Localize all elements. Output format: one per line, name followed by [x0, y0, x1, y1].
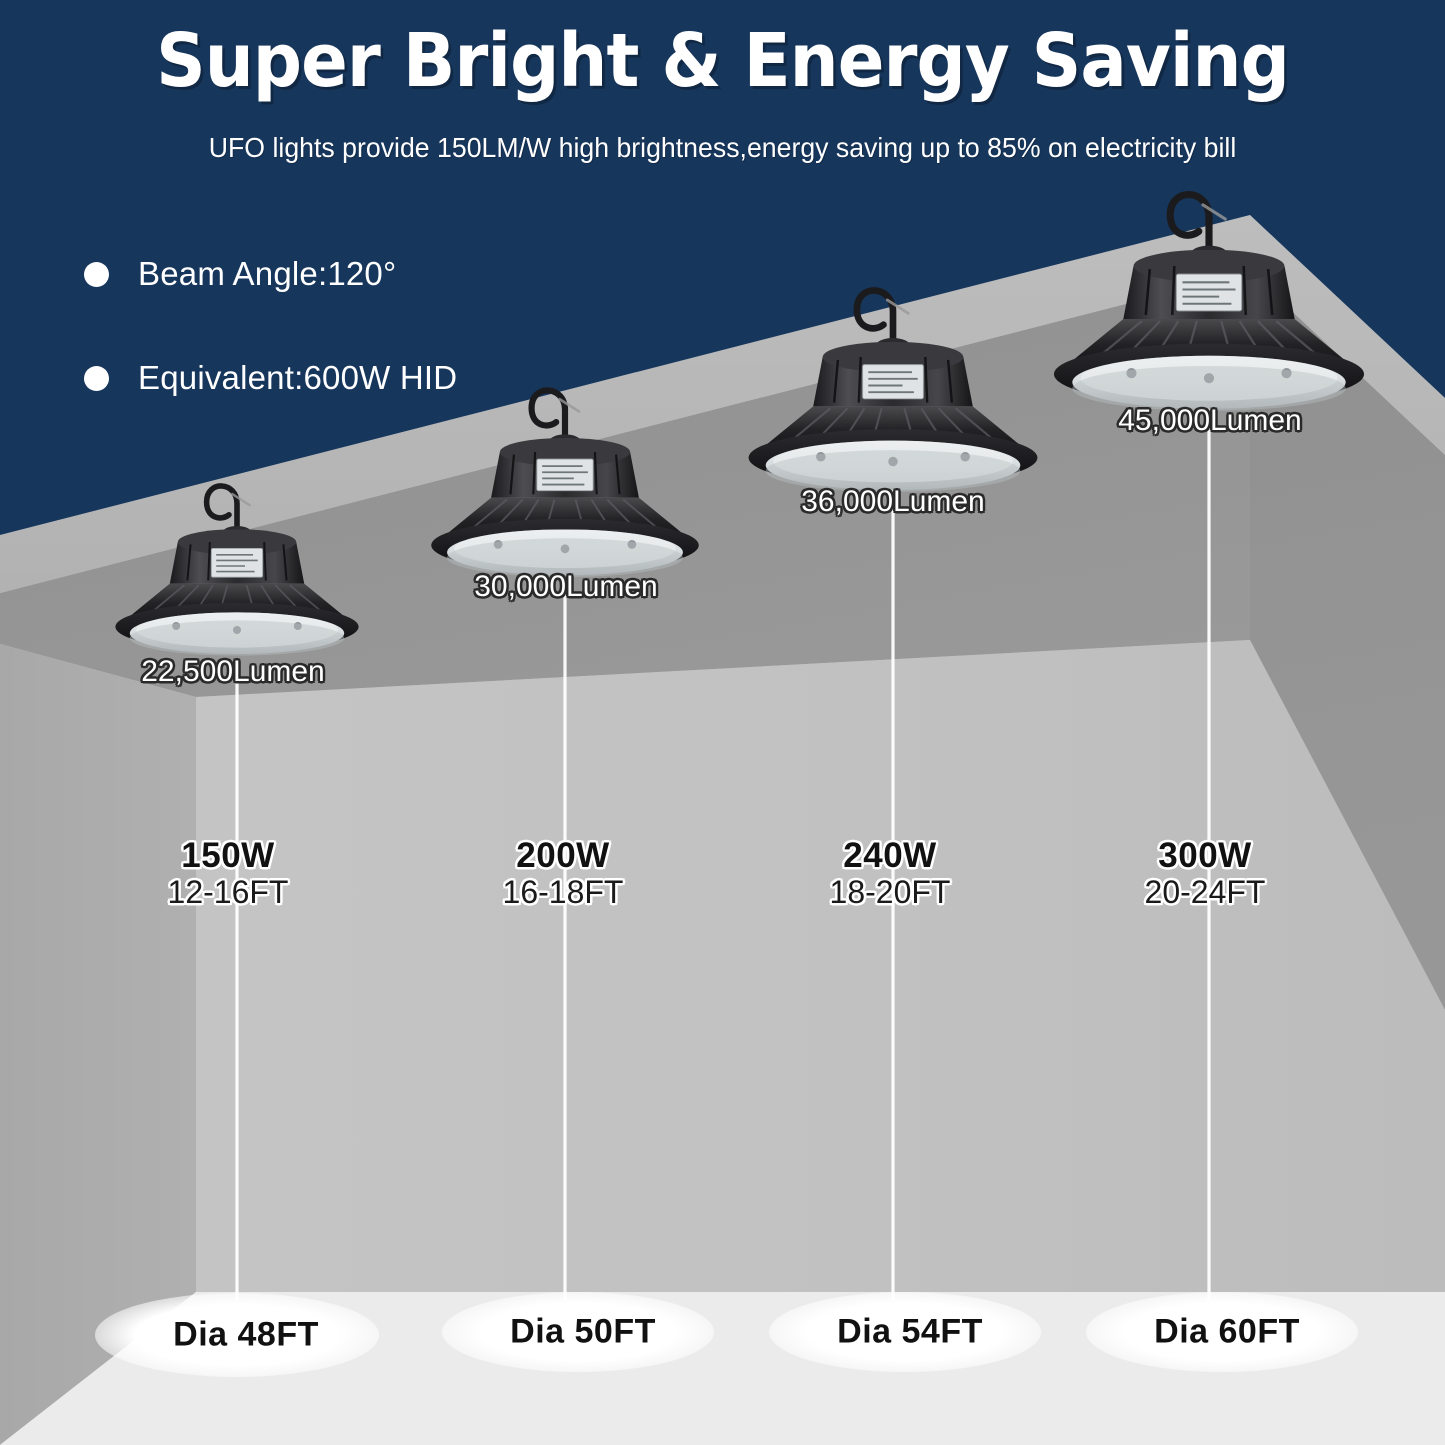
mounting-height-value-2: 16-18FT — [503, 875, 624, 911]
feature-bullet-equivalent: Equivalent:600W HID — [84, 356, 457, 400]
page-title: Super Bright & Energy Saving — [51, 24, 1395, 98]
coverage-label-4: Dia 60FT — [1154, 1313, 1300, 1352]
wattage-value-4: 300W — [1145, 838, 1266, 875]
mounting-height-value-1: 12-16FT — [168, 875, 289, 911]
wattage-value-2: 200W — [503, 838, 624, 875]
mounting-height-value-4: 20-24FT — [1145, 875, 1266, 911]
wattage-block-1: 150W 12-16FT — [168, 838, 289, 911]
wattage-block-2: 200W 16-18FT — [503, 838, 624, 911]
feature-bullet-list: Beam Angle:120° Equivalent:600W HID — [84, 252, 457, 460]
wattage-value-1: 150W — [168, 838, 289, 875]
feature-bullet-label: Equivalent:600W HID — [138, 359, 457, 397]
wattage-value-3: 240W — [830, 838, 951, 875]
lumen-label-3: 36,000Lumen — [801, 485, 985, 519]
bullet-dot-icon — [84, 366, 109, 391]
feature-bullet-label: Beam Angle:120° — [138, 255, 396, 293]
coverage-label-1: Dia 48FT — [173, 1316, 319, 1355]
wattage-block-3: 240W 18-20FT — [830, 838, 951, 911]
bullet-dot-icon — [84, 262, 109, 287]
back-wall-main — [196, 640, 1445, 1292]
coverage-label-2: Dia 50FT — [510, 1313, 656, 1352]
page-subtitle: UFO lights provide 150LM/W high brightne… — [22, 132, 1424, 164]
lumen-label-2: 30,000Lumen — [474, 570, 658, 604]
wattage-block-4: 300W 20-24FT — [1145, 838, 1266, 911]
infographic-stage: Super Bright & Energy Saving UFO lights … — [0, 0, 1445, 1445]
room-scene — [0, 0, 1445, 1445]
coverage-label-3: Dia 54FT — [837, 1313, 983, 1352]
mounting-height-value-3: 18-20FT — [830, 875, 951, 911]
feature-bullet-beam-angle: Beam Angle:120° — [84, 252, 457, 296]
lumen-label-1: 22,500Lumen — [141, 655, 325, 689]
lumen-label-4: 45,000Lumen — [1118, 404, 1302, 438]
